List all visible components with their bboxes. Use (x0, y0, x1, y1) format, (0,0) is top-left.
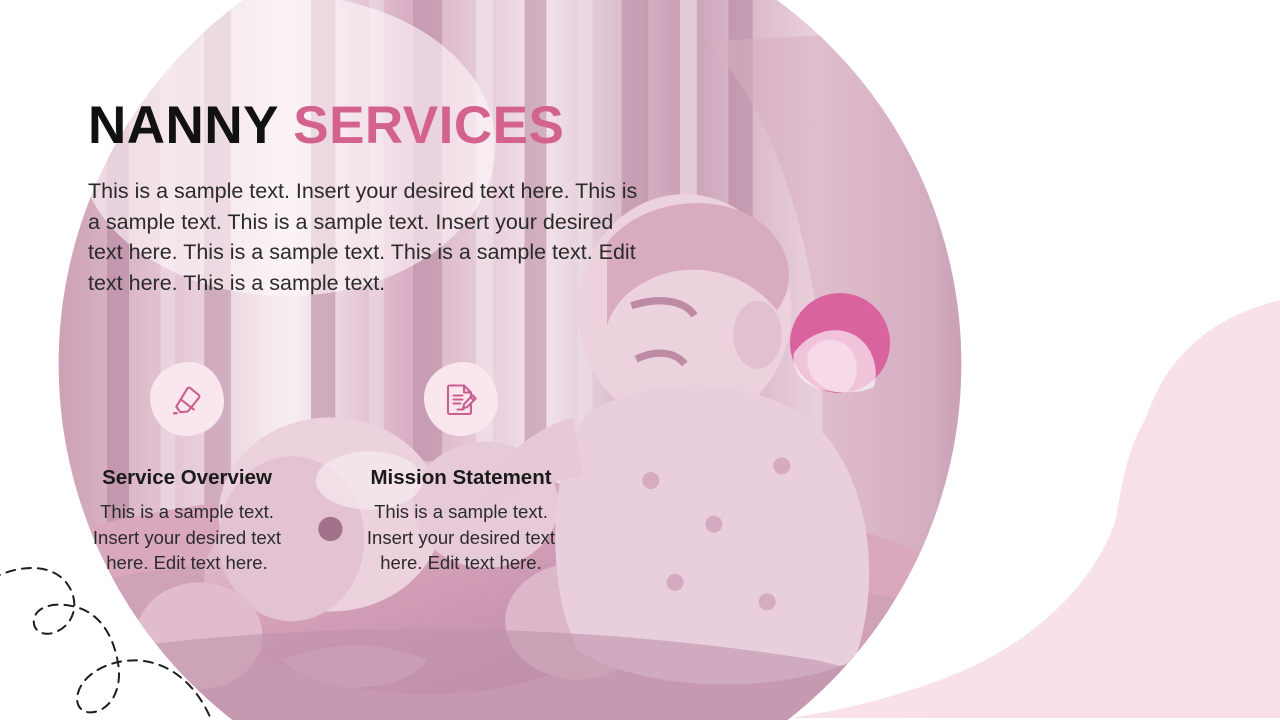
page-title-accent: SERVICES (293, 96, 564, 155)
document-pencil-icon (442, 380, 480, 418)
feature-title: Service Overview (102, 466, 272, 490)
document-pencil-icon-blob (424, 362, 498, 436)
feature-item-service-overview[interactable]: Service Overview This is a sample text. … (76, 362, 298, 576)
eraser-icon-blob (150, 362, 224, 436)
slide-canvas: NANNY SERVICES This is a sample text. In… (0, 0, 1280, 720)
intro-paragraph: This is a sample text. Insert your desir… (88, 176, 638, 298)
page-title-dark: NANNY (88, 96, 278, 155)
eraser-icon (168, 380, 206, 418)
accent-circle-decoration (788, 291, 892, 395)
feature-title: Mission Statement (370, 466, 551, 490)
feature-list: Service Overview This is a sample text. … (76, 362, 646, 576)
photo-sleeping-baby (648, 428, 1020, 720)
dashed-curl-line (0, 565, 222, 720)
feature-text: This is a sample text. Insert your desir… (354, 499, 569, 576)
page-title: NANNY SERVICES (88, 99, 564, 152)
feature-item-mission-statement[interactable]: Mission Statement This is a sample text.… (350, 362, 572, 576)
